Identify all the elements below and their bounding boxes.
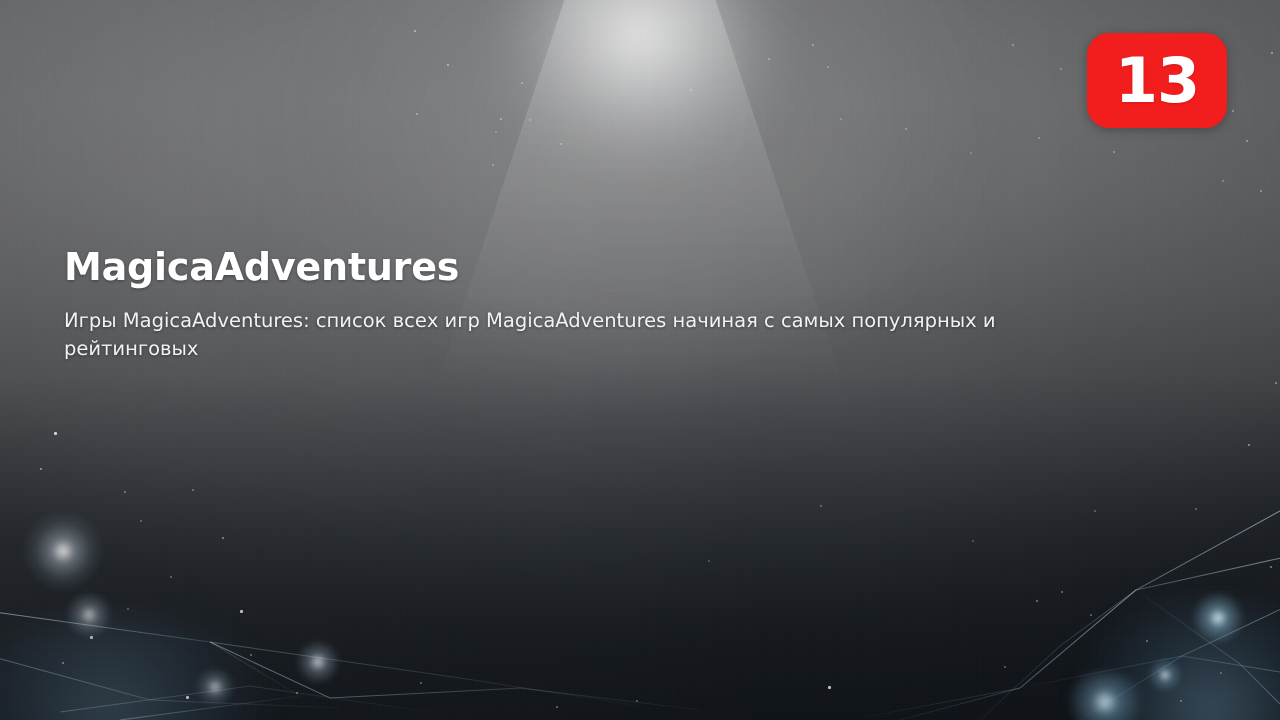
page-title: MagicaAdventures [64, 246, 1104, 290]
count-badge[interactable]: 13 [1087, 33, 1227, 128]
network-lines [0, 460, 1280, 720]
particle-network [0, 460, 1280, 720]
page-description: Игры MagicaAdventures: список всех игр M… [64, 307, 1082, 364]
hero-banner: 13 MagicaAdventures Игры MagicaAdventure… [0, 0, 1280, 720]
hero-text-block: MagicaAdventures Игры MagicaAdventures: … [64, 246, 1104, 364]
count-badge-value: 13 [1115, 50, 1199, 112]
